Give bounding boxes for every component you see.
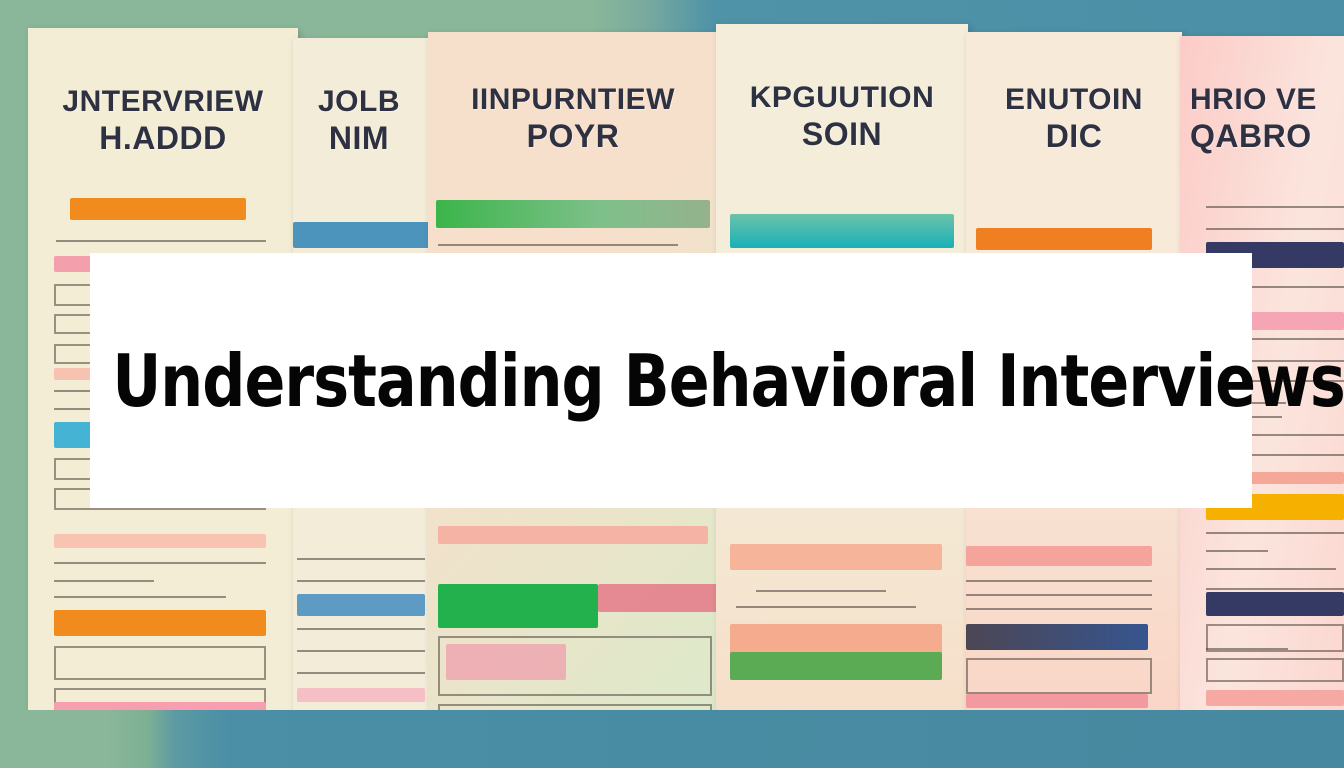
card-5-heading: ENUTOIN DIC [966, 84, 1182, 156]
card-3-accent-bar-green [438, 584, 598, 628]
card-2-accent-bar-pink [297, 688, 425, 702]
card-5-accent-bar-pink [966, 546, 1152, 566]
card-6-text-box [1206, 658, 1344, 682]
card-3-accent-bar-rose [598, 584, 718, 612]
card-1-heading-line1: JNTERVRIEW [28, 86, 298, 118]
card-6-rule [1206, 228, 1344, 230]
card-1-accent-bar-pink [54, 702, 266, 716]
card-2-heading-line1: JOLB [293, 86, 429, 118]
card-3-heading-line1: IINPURNTIEW [428, 84, 718, 116]
card-1-accent-bar-orange [54, 610, 266, 636]
card-1-rule [56, 240, 266, 242]
card-5-accent-bar-orange [976, 228, 1152, 250]
card-3-heading-line2: POYR [428, 116, 718, 156]
card-3-heading: IINPURNTIEW POYR [428, 84, 718, 156]
card-1-rule [54, 596, 226, 598]
card-5-rule [966, 594, 1152, 596]
card-4-accent-bar-green [730, 652, 942, 680]
card-1-rule [54, 738, 260, 740]
card-3-accent-bar-green [436, 200, 710, 228]
card-2-rule [297, 558, 425, 560]
card-2-rule [297, 716, 425, 718]
card-6-rule [1206, 532, 1344, 534]
card-6-heading: HRIO VE QABRO [1190, 84, 1344, 156]
card-4-rule [756, 590, 886, 592]
page-title: Understanding Behavioral Interviews [90, 339, 1344, 423]
card-4-heading: KPGUUTION SOIN [716, 82, 968, 154]
card-6-accent-bar-pink [1206, 690, 1344, 706]
card-5-rule [966, 580, 1152, 582]
card-5-accent-bar-pink [966, 694, 1148, 708]
card-2-heading-line2: NIM [293, 118, 429, 158]
card-6-rule [1206, 726, 1344, 728]
card-2-accent-bar-blue [297, 594, 425, 616]
card-4-accent-bar-peach [730, 544, 942, 570]
card-4-heading-line1: KPGUUTION [716, 82, 968, 114]
card-5-rule [966, 608, 1152, 610]
card-6-heading-line2: QABRO [1190, 116, 1344, 156]
card-1-rule [54, 722, 266, 724]
card-5-text-box [966, 658, 1152, 694]
card-4-rule [736, 606, 916, 608]
title-banner: Understanding Behavioral Interviews [90, 253, 1252, 508]
card-4-accent-bar-teal [730, 214, 954, 248]
card-1-accent-bar-orange [70, 198, 246, 220]
card-2-rule [297, 650, 425, 652]
card-6-text-box [1206, 624, 1344, 652]
card-2-heading: JOLB NIM [293, 86, 429, 158]
card-1-text-box [54, 646, 266, 680]
card-1-accent-bar-peach [54, 534, 266, 548]
card-6-rule [1206, 550, 1268, 552]
card-1-heading-line2: H.ADDD [28, 118, 298, 158]
card-1-heading: JNTERVRIEW H.ADDD [28, 86, 298, 158]
card-2-rule [297, 672, 425, 674]
card-2-rule [297, 628, 425, 630]
card-5-accent-bar-navy [966, 624, 1148, 650]
card-6-rule [1206, 568, 1336, 570]
card-1-rule [54, 580, 154, 582]
card-2-accent-bar-blue [293, 222, 429, 248]
card-6-heading-line1: HRIO VE [1190, 84, 1344, 116]
card-1-rule [54, 562, 266, 564]
card-3-rule [438, 244, 678, 246]
card-6-rule [1206, 588, 1344, 590]
card-4-heading-line2: SOIN [716, 114, 968, 154]
card-2-rule [297, 738, 425, 740]
card-5-accent-bar-pink [1018, 718, 1092, 730]
card-6-accent-bar-navy [1206, 592, 1344, 616]
card-6-rule [1206, 206, 1344, 208]
card-5-text-box [966, 716, 1152, 740]
card-5-heading-line1: ENUTOIN [966, 84, 1182, 116]
card-3-text-box [438, 704, 712, 740]
card-2-rule [297, 580, 425, 582]
card-3-accent-bar-salmon [438, 526, 708, 544]
card-4-accent-bar-salmon [730, 624, 942, 654]
card-3-accent-bar-pink [446, 644, 566, 680]
card-5-heading-line2: DIC [966, 116, 1182, 156]
